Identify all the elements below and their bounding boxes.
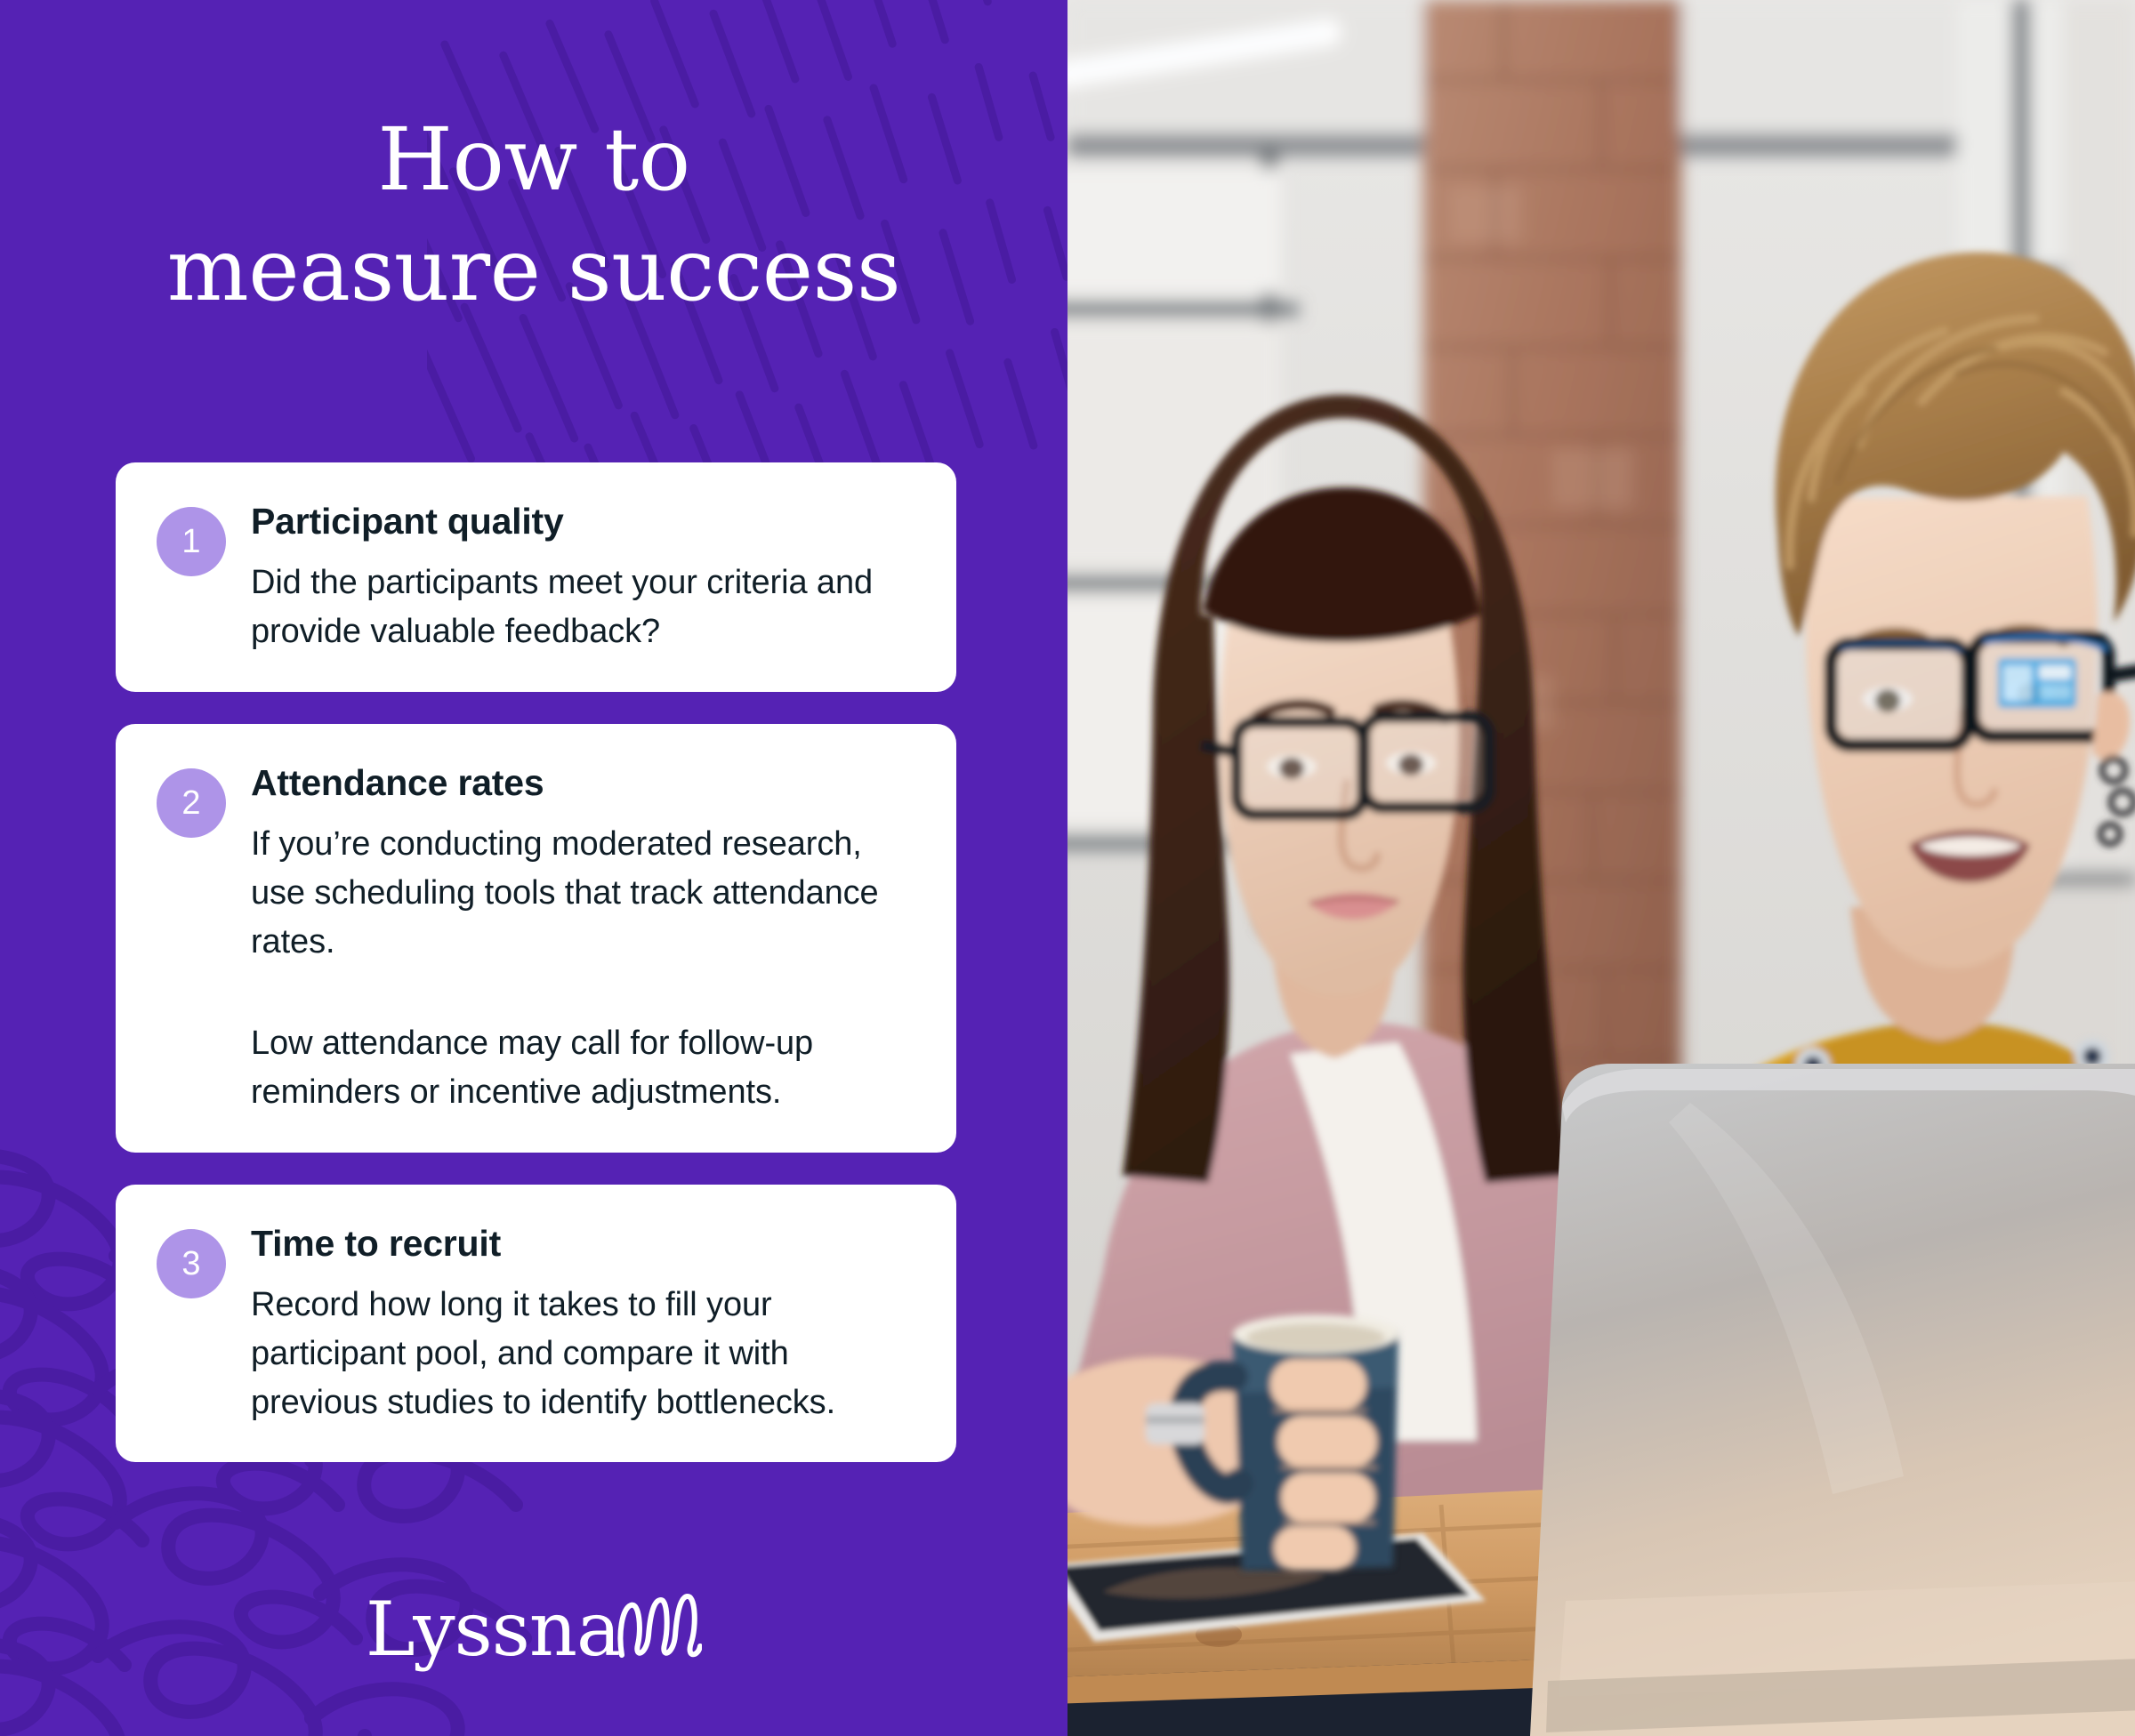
page-title: How to measure success [0, 105, 1067, 325]
card-paragraph: Record how long it takes to fill your pa… [251, 1281, 915, 1427]
poster-canvas: How to measure success 1 Participant qua… [0, 0, 2135, 1736]
card-body: Participant quality Did the participants… [251, 496, 915, 656]
photo-two-people-at-laptop [1067, 0, 2135, 1736]
card-paragraph: Did the participants meet your criteria … [251, 559, 915, 655]
title-line-2: measure success [0, 215, 1067, 325]
logo-wordmark: Lyssna [366, 1592, 620, 1667]
card-list: 1 Participant quality Did the participan… [116, 462, 956, 1494]
card-time-to-recruit[interactable]: 3 Time to recruit Record how long it tak… [116, 1185, 956, 1463]
card-heading: Participant quality [251, 500, 915, 542]
card-attendance-rates[interactable]: 2 Attendance rates If you’re conducting … [116, 724, 956, 1153]
card-body: Time to recruit Record how long it takes… [251, 1218, 915, 1427]
lyssna-logo[interactable]: Lyssna [0, 1591, 1067, 1667]
card-paragraph: If you’re conducting moderated research,… [251, 820, 915, 966]
card-number-badge: 1 [157, 507, 226, 576]
card-participant-quality[interactable]: 1 Participant quality Did the participan… [116, 462, 956, 692]
left-content-panel: How to measure success 1 Participant qua… [0, 0, 1067, 1736]
card-body: Attendance rates If you’re conducting mo… [251, 758, 915, 1117]
title-line-1: How to [0, 105, 1067, 215]
lyssna-loop-mark-icon [616, 1591, 702, 1663]
card-heading: Attendance rates [251, 761, 915, 804]
card-number-badge: 2 [157, 768, 226, 838]
card-paragraph: Low attendance may call for follow-up re… [251, 1019, 915, 1116]
card-heading: Time to recruit [251, 1222, 915, 1265]
card-number-badge: 3 [157, 1229, 226, 1298]
